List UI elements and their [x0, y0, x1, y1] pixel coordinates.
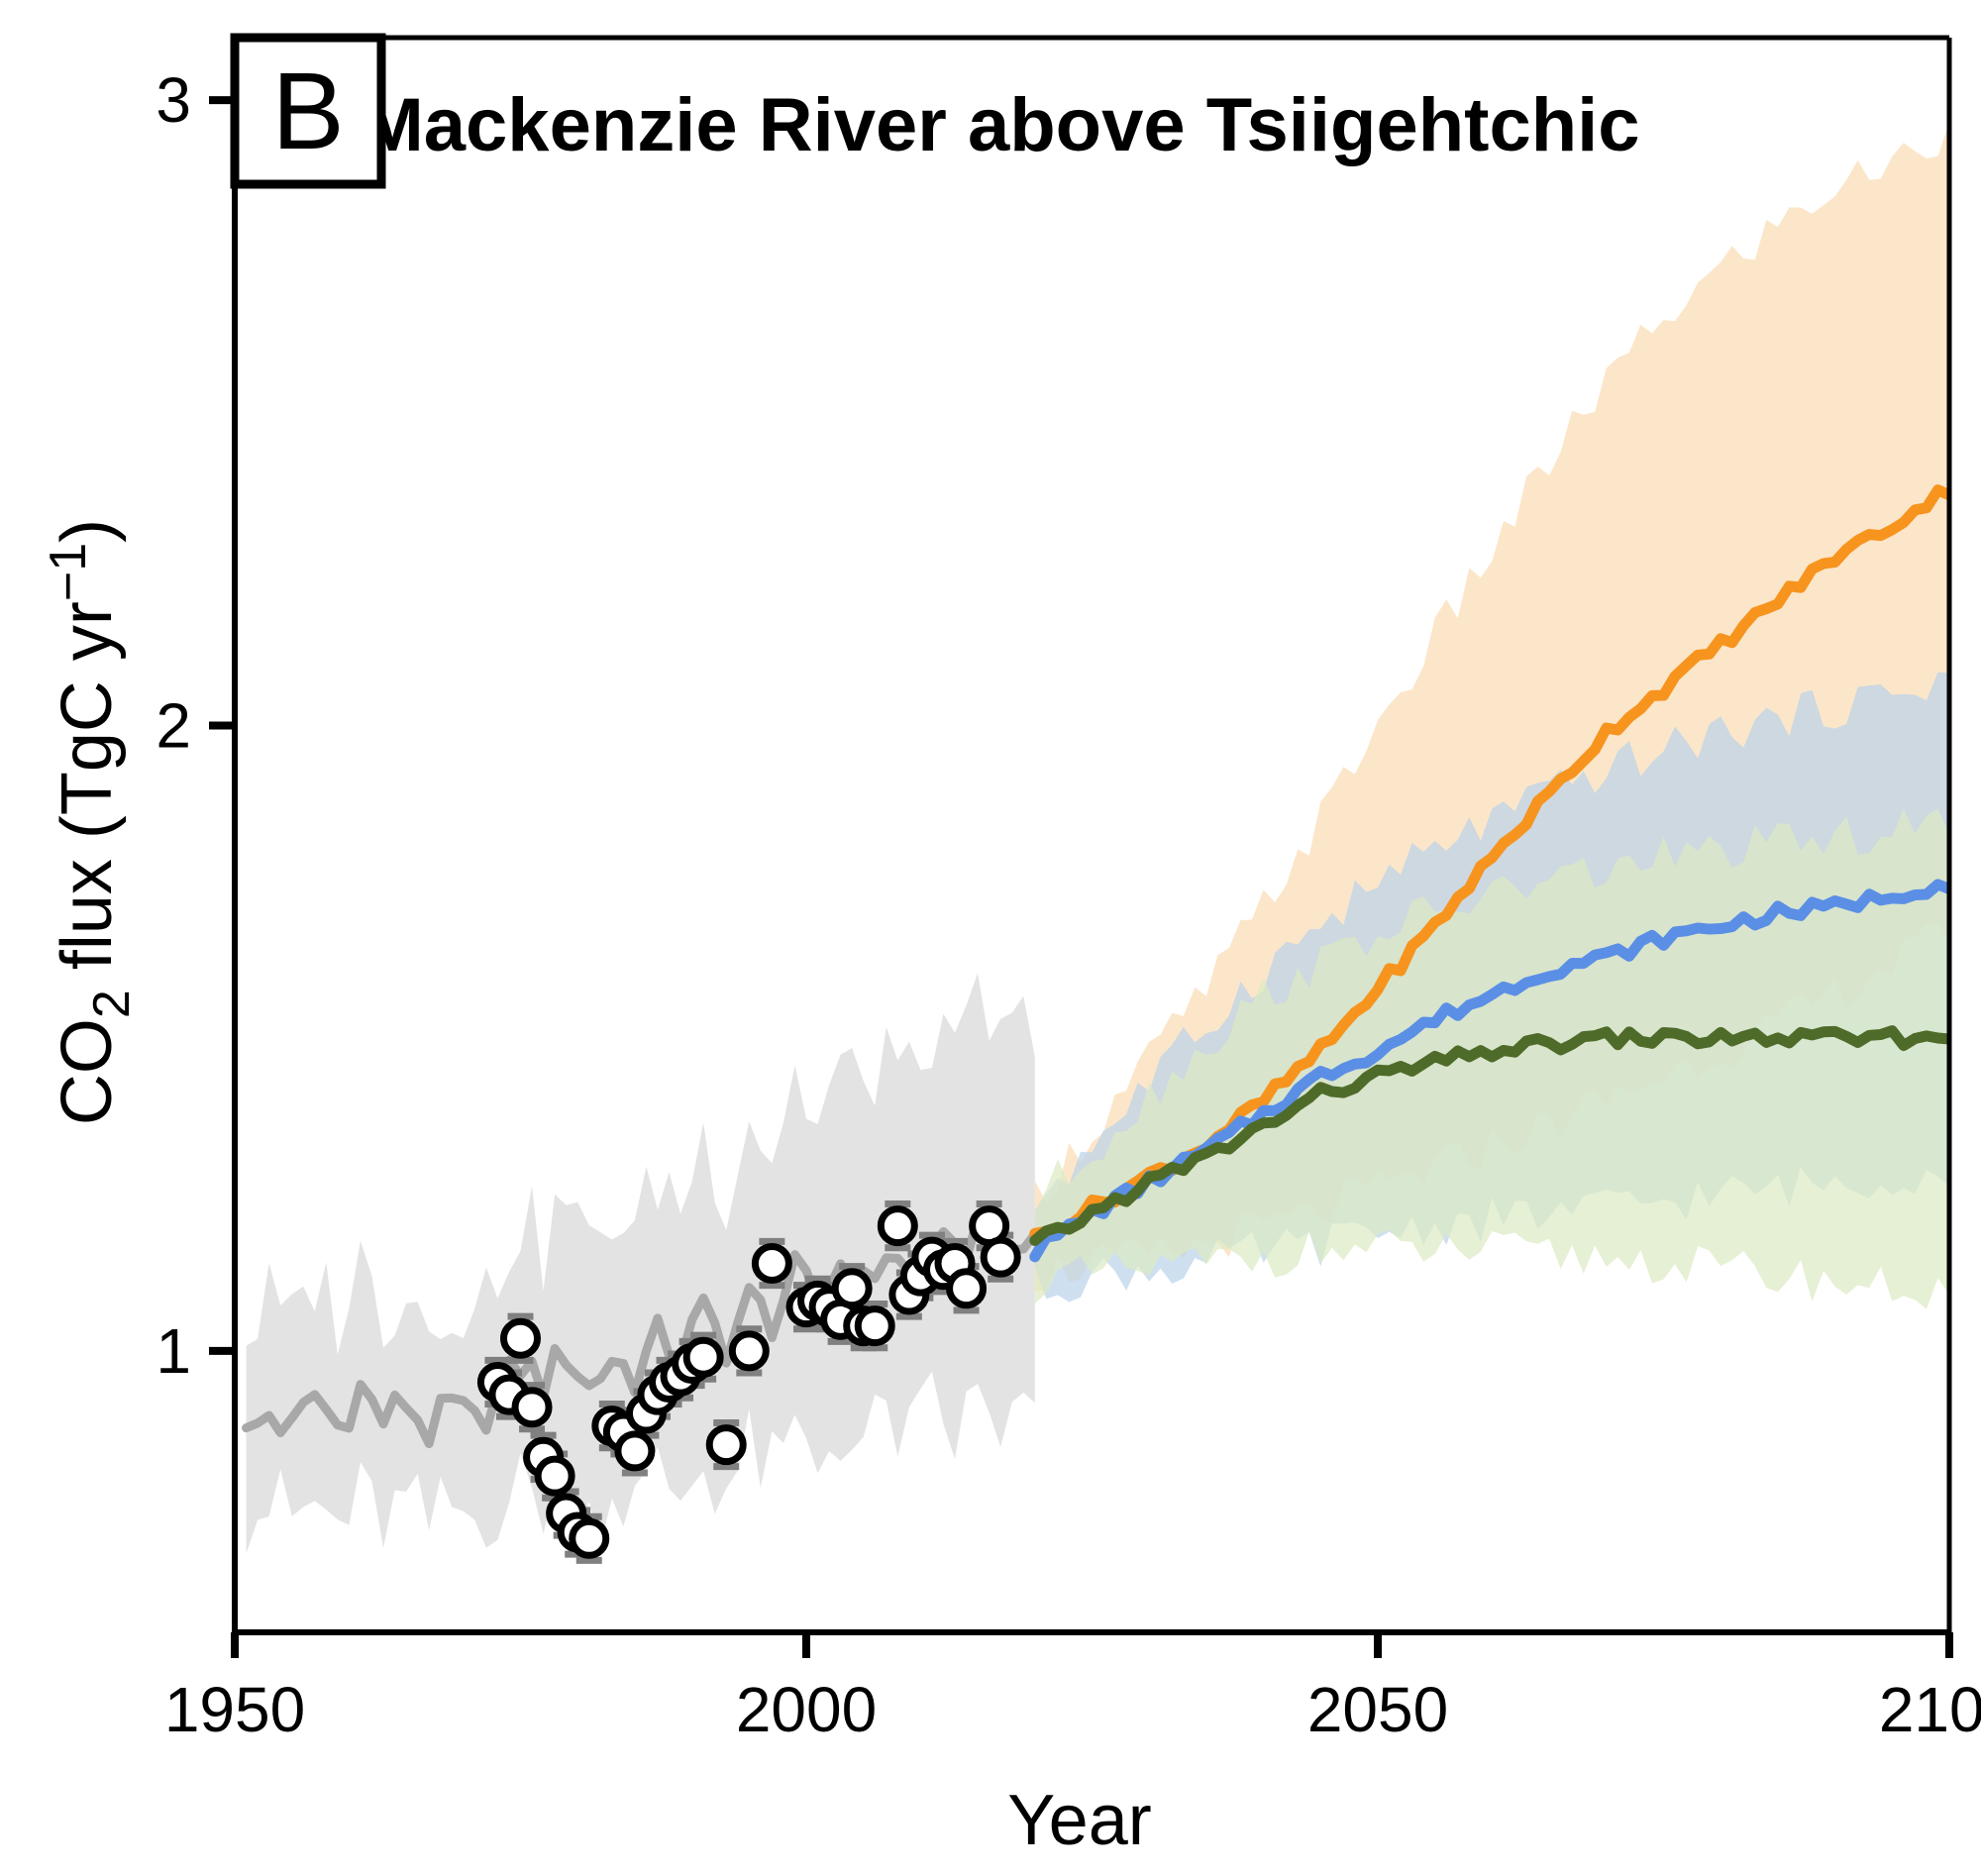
x-tick-label: 1950	[164, 1674, 305, 1745]
observation-point	[858, 1309, 891, 1343]
observation-point	[755, 1246, 788, 1280]
observation-point	[732, 1334, 766, 1368]
y-axis-title-sub: 2	[83, 990, 141, 1018]
x-tick-label: 2050	[1307, 1674, 1448, 1745]
observation-point	[504, 1321, 538, 1355]
chart-title: Mackenzie River above Tsiigehtchic	[361, 83, 1639, 167]
x-tick-label: 2100	[1879, 1674, 1981, 1745]
panel-letter-badge: B	[235, 38, 381, 184]
observation-point	[538, 1459, 572, 1493]
observation-point	[515, 1391, 549, 1424]
observation-point	[950, 1272, 984, 1305]
x-axis-title: Year	[1007, 1781, 1151, 1860]
y-tick-label: 1	[156, 1315, 191, 1387]
y-axis-title: CO2 flux (TgC yr−1)	[40, 519, 141, 1125]
y-tick-label: 2	[156, 690, 191, 762]
x-tick-label: 2000	[736, 1674, 877, 1745]
figure-panel: 1950200020502100123 Mackenzie River abov…	[0, 0, 1981, 1876]
observation-point	[686, 1340, 720, 1374]
observation-point	[709, 1428, 743, 1462]
observation-point	[835, 1272, 869, 1305]
panel-letter-label: B	[271, 51, 344, 172]
y-axis-title-mid: flux (TgC yr	[48, 601, 127, 990]
svg-text:CO2 flux (TgC yr−1): CO2 flux (TgC yr−1)	[40, 519, 141, 1125]
chart-svg: 1950200020502100123 Mackenzie River abov…	[0, 0, 1981, 1876]
y-axis-title-sup: −1	[40, 543, 97, 601]
y-axis-title-prefix: CO	[48, 1018, 127, 1125]
observation-point	[618, 1434, 652, 1468]
observation-point	[573, 1521, 606, 1555]
y-tick-label: 3	[156, 64, 191, 136]
observation-point	[984, 1240, 1017, 1274]
observation-point	[881, 1209, 914, 1243]
y-axis-title-suffix: )	[48, 519, 127, 543]
